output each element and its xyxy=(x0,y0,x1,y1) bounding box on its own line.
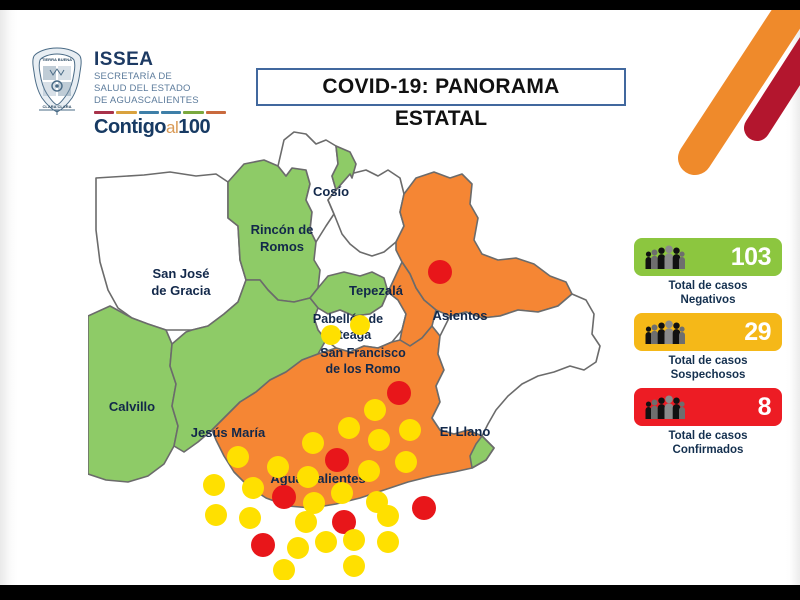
org-line-3: DE AGUASCALIENTES xyxy=(94,95,226,107)
stat-label-confirmados: Total de casosConfirmados xyxy=(634,429,782,457)
people-group-icon xyxy=(643,319,685,345)
dot-suspected xyxy=(377,505,399,527)
org-line-1: SECRETARÍA DE xyxy=(94,71,226,83)
dot-suspected xyxy=(295,511,317,533)
people-group-icon xyxy=(643,394,685,420)
dot-suspected xyxy=(287,537,309,559)
logo-text-block: ISSEA SECRETARÍA DE SALUD DEL ESTADO DE … xyxy=(94,46,226,139)
title-box: COVID-19: PANORAMA xyxy=(256,68,626,106)
dot-suspected xyxy=(395,451,417,473)
dot-confirmed xyxy=(428,260,452,284)
dot-suspected xyxy=(203,474,225,496)
dot-suspected xyxy=(273,559,295,580)
slide-left-edge xyxy=(0,10,18,585)
issea-logo-block: TIERRA BUENA CLARA CLARA ISSEA SECRETARÍ… xyxy=(28,46,226,139)
brand-dash-5 xyxy=(206,111,226,114)
dot-suspected xyxy=(368,429,390,451)
stat-count-sospechosos: 29 xyxy=(744,320,771,345)
map-label-rincon-de-romos-line2: Romos xyxy=(260,239,304,254)
brand-dash-1 xyxy=(116,111,136,114)
municipality-asientos[interactable] xyxy=(396,172,572,318)
map-label-el-llano: El Llano xyxy=(440,424,491,439)
issea-crest-icon: TIERRA BUENA CLARA CLARA xyxy=(28,46,86,118)
dot-suspected xyxy=(364,399,386,421)
dot-suspected xyxy=(242,477,264,499)
brand-dash-row xyxy=(94,111,226,114)
brand-dash-4 xyxy=(183,111,203,114)
map-label-pabellon-line1: Pabellón de xyxy=(313,312,383,326)
dot-suspected xyxy=(205,504,227,526)
dot-suspected xyxy=(343,529,365,551)
map-label-tepezala: Tepezalá xyxy=(349,283,404,298)
dot-suspected xyxy=(302,432,324,454)
dot-suspected xyxy=(331,482,353,504)
map-label-calvillo: Calvillo xyxy=(109,399,155,414)
map-svg[interactable]: Cosío Rincón de Romos Tepezalá San José … xyxy=(88,130,608,580)
org-initials: ISSEA xyxy=(94,50,226,69)
dot-suspected xyxy=(321,325,341,345)
brand-dash-0 xyxy=(94,111,114,114)
map-label-san-francisco-line1: San Francisco xyxy=(320,346,406,360)
map-label-san-jose-de-gracia-line1: San José xyxy=(152,266,209,281)
dot-suspected xyxy=(303,492,325,514)
page-title: COVID-19: PANORAMA xyxy=(322,75,559,99)
dot-confirmed xyxy=(325,448,349,472)
crest-motto-bottom: CLARA CLARA xyxy=(43,104,72,109)
brand-dash-3 xyxy=(161,111,181,114)
dot-suspected xyxy=(399,419,421,441)
map-label-asientos: Asientos xyxy=(433,308,488,323)
dot-confirmed xyxy=(412,496,436,520)
stat-pill-confirmados: 8 xyxy=(634,388,782,426)
map-label-san-jose-de-gracia-line2: de Gracia xyxy=(151,283,211,298)
letterbox-bottom xyxy=(0,585,800,600)
municipality-calvillo[interactable] xyxy=(88,306,178,482)
dot-suspected xyxy=(358,460,380,482)
org-line-2: SALUD DEL ESTADO xyxy=(94,83,226,95)
stat-card-confirmados: 8Total de casosConfirmados xyxy=(634,388,782,457)
dot-suspected xyxy=(343,555,365,577)
crest-motto-top: TIERRA BUENA xyxy=(42,57,72,62)
dot-suspected xyxy=(267,456,289,478)
page-subtitle: ESTATAL xyxy=(256,107,626,131)
dot-suspected xyxy=(297,466,319,488)
stat-label-line1-sospechosos: Total de casos xyxy=(634,354,782,368)
dot-suspected xyxy=(239,507,261,529)
stat-card-negativos: 103Total de casosNegativos xyxy=(634,238,782,307)
aguascalientes-map[interactable]: Cosío Rincón de Romos Tepezalá San José … xyxy=(88,130,608,580)
stat-count-negativos: 103 xyxy=(731,245,771,270)
decorative-swoosh-group xyxy=(615,10,800,180)
slide-canvas: TIERRA BUENA CLARA CLARA ISSEA SECRETARÍ… xyxy=(0,10,800,585)
stat-count-confirmados: 8 xyxy=(758,395,771,420)
dot-confirmed xyxy=(272,485,296,509)
letterbox-top xyxy=(0,0,800,10)
map-label-san-francisco-line2: de los Romo xyxy=(325,362,400,376)
dot-suspected xyxy=(227,446,249,468)
stat-pill-sospechosos: 29 xyxy=(634,313,782,351)
people-group-icon xyxy=(643,244,685,270)
map-label-cosio: Cosío xyxy=(313,184,349,199)
stat-label-line1-confirmados: Total de casos xyxy=(634,429,782,443)
stat-label-line2-negativos: Negativos xyxy=(634,293,782,307)
dot-suspected xyxy=(315,531,337,553)
stat-card-sospechosos: 29Total de casosSospechosos xyxy=(634,313,782,382)
stat-label-line2-sospechosos: Sospechosos xyxy=(634,368,782,382)
dot-suspected xyxy=(338,417,360,439)
dot-suspected xyxy=(377,531,399,553)
map-label-jesus-maria: Jesús María xyxy=(191,425,266,440)
case-stats-panel: 103Total de casosNegativos29Total de cas… xyxy=(634,238,782,463)
stat-label-line2-confirmados: Confirmados xyxy=(634,443,782,457)
stat-label-sospechosos: Total de casosSospechosos xyxy=(634,354,782,382)
org-full-name: SECRETARÍA DE SALUD DEL ESTADO DE AGUASC… xyxy=(94,71,226,107)
dot-confirmed xyxy=(251,533,275,557)
stat-label-negativos: Total de casosNegativos xyxy=(634,279,782,307)
brand-dash-2 xyxy=(139,111,159,114)
dot-suspected xyxy=(350,315,370,335)
dot-confirmed xyxy=(387,381,411,405)
stat-label-line1-negativos: Total de casos xyxy=(634,279,782,293)
map-label-rincon-de-romos-line1: Rincón de xyxy=(251,222,314,237)
stat-pill-negativos: 103 xyxy=(634,238,782,276)
municipality-san-jose-de-gracia[interactable] xyxy=(96,172,246,330)
